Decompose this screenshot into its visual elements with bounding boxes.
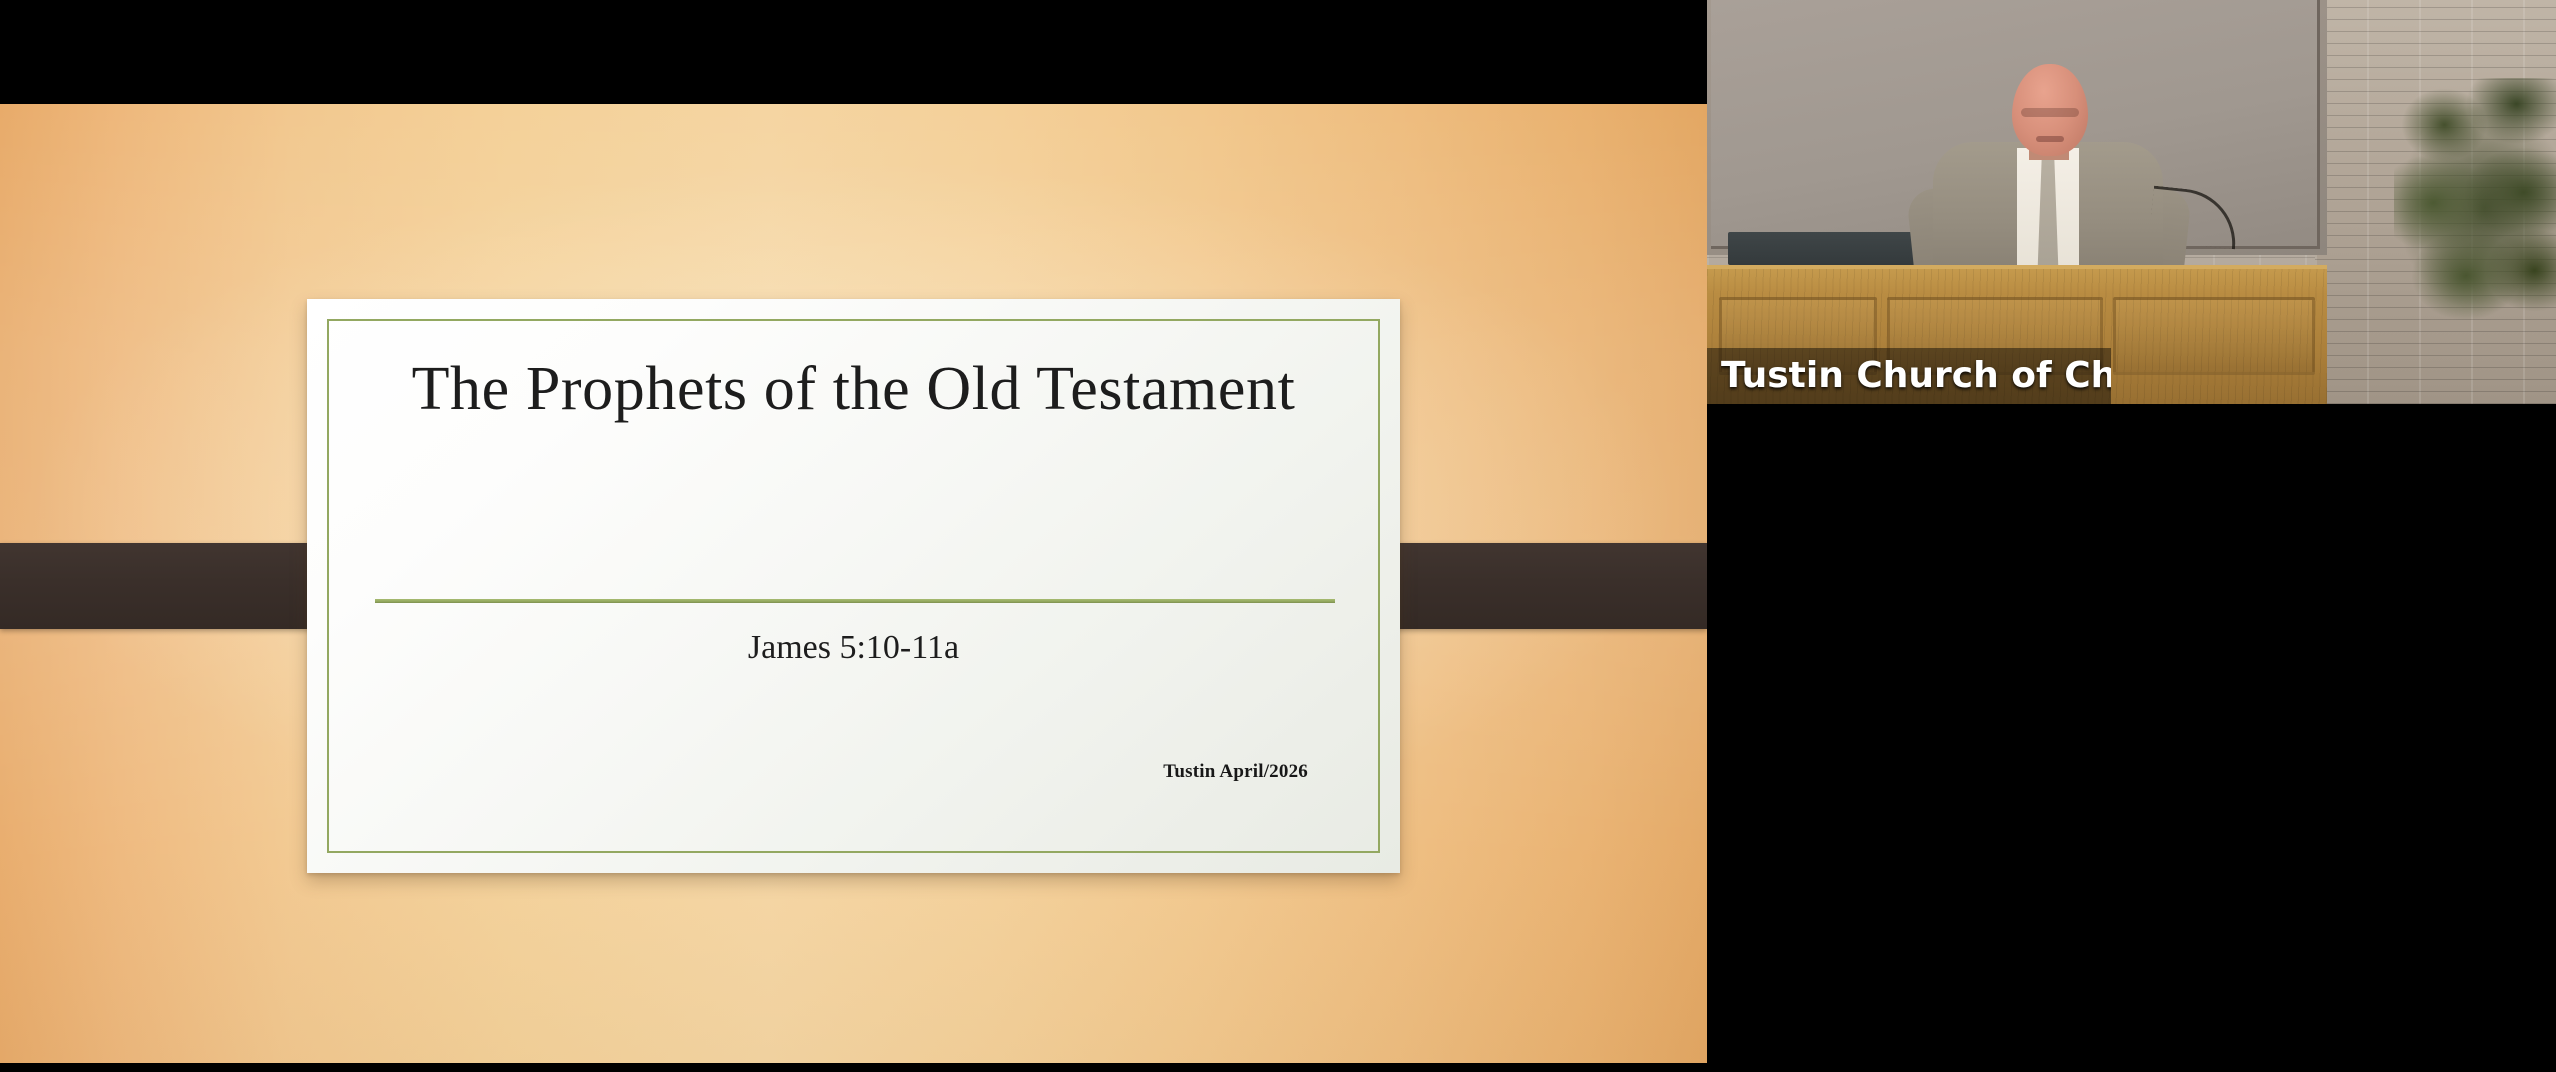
letterbox-bar-top [0, 0, 1707, 104]
wall-mounted-box [1728, 232, 1916, 265]
slide-subtitle-scripture-reference: James 5:10-11a [367, 629, 1340, 667]
potted-plant [2394, 78, 2556, 338]
participant-name-label: Tustin Church of Chri... [1721, 353, 2111, 399]
speaker-person [1933, 70, 2163, 288]
slide-divider-rule [375, 599, 1335, 603]
speaker-mouth [2036, 136, 2064, 142]
letterbox-bar-bottom [0, 1063, 1707, 1072]
slide-ribbon-left [0, 543, 346, 629]
slide-footnote-location-date: Tustin April/2026 [1163, 761, 1308, 783]
speaker-video-tile[interactable]: Tustin Church of Chri... [1707, 0, 2556, 404]
slide-title: The Prophets of the Old Testament [367, 354, 1340, 425]
speaker-eyes [2021, 108, 2079, 117]
screen-share-region[interactable]: The Prophets of the Old Testament James … [0, 0, 1707, 1072]
slide-ribbon-right [1362, 543, 1707, 629]
presentation-slide-card: The Prophets of the Old Testament James … [307, 299, 1400, 873]
empty-tile-area [1707, 404, 2556, 1072]
lectern-panel [2113, 297, 2315, 375]
video-call-stage: The Prophets of the Old Testament James … [0, 0, 2556, 1072]
